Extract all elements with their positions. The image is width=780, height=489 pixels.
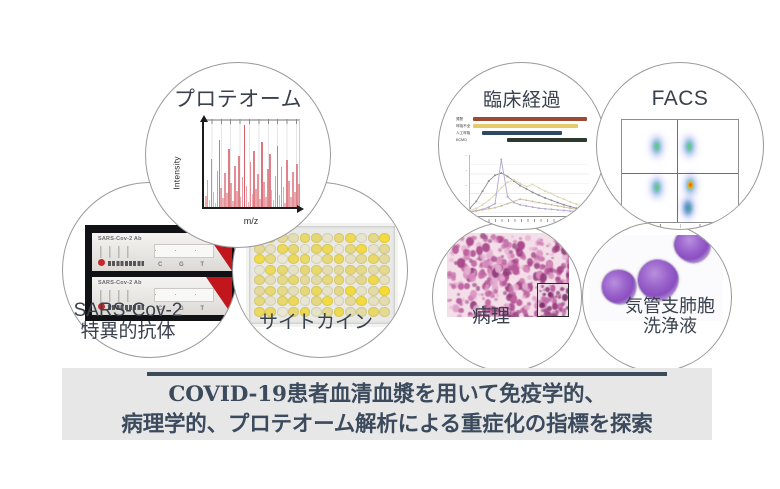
elisa-well [356,296,367,306]
clinical-series-marker [569,210,571,212]
histology-cell-nucleus [566,269,569,273]
elisa-well [311,296,322,306]
elisa-well [311,254,322,264]
elisa-well [379,286,390,296]
histology-cell-nucleus [519,278,525,284]
elisa-well [368,275,379,285]
elisa-well [277,275,288,285]
histology-cell-nucleus [451,276,456,282]
elisa-well [345,275,356,285]
elisa-well [288,265,299,275]
clinical-series-marker [582,206,584,208]
clinical-series-marker [532,206,534,208]
label-bal-line1: 気管支肺胞 [625,296,715,316]
histology-cell-nucleus [562,294,567,301]
clinical-series-marker [519,185,521,187]
histology-cell-nucleus [451,284,456,289]
label-sars-line2: 特異的抗体 [80,321,175,342]
histology-cell-nucleus [543,293,546,296]
clinical-series-marker [494,203,496,205]
histology-cell-nucleus [550,253,554,256]
histology-cell-nucleus [511,260,514,262]
histology-cell-nucleus [547,243,552,248]
clinical-series-marker [544,197,546,199]
cassette-red-corner [206,277,232,315]
elisa-well [334,275,345,285]
histology-cell-nucleus [519,237,522,239]
elisa-well [334,244,345,254]
panel-proteome-title: プロテオーム [146,83,330,113]
label-sars-line1: SARS-Cov-2 [74,300,183,321]
elisa-well [300,275,311,285]
histology-cell-nucleus [462,259,466,262]
histology-cell-nucleus [561,246,568,255]
histology-cell-nucleus [476,286,481,291]
elisa-well [368,233,379,243]
clinical-series-marker [500,158,502,160]
label-pathology: 病理 [436,306,546,327]
histology-cell-nucleus [557,267,563,274]
clinical-series-marker [575,203,577,205]
clinical-series-marker [544,208,546,210]
banner-top-rule [147,372,667,376]
clinical-series-marker [481,209,483,211]
elisa-well [288,275,299,285]
histology-cell-nucleus [449,258,454,263]
clinical-timeline-bar-label: 人工呼吸 [456,131,470,135]
clinical-series-marker [538,194,540,196]
elisa-well [322,275,333,285]
clinical-series-marker [575,208,577,210]
elisa-well [311,275,322,285]
clinical-series-marker [557,196,559,198]
facs-x-tick-label: 10⁶ [733,227,739,230]
clinical-series-marker [525,199,527,201]
clinical-x-axis-ticks [469,219,589,222]
histology-cell-nucleus [469,273,476,281]
elisa-well [322,254,333,264]
elisa-well-grid [254,233,390,317]
cassette-brand-label: SARS-Cov-2 Ab [98,280,142,286]
cassette-sample-wells-icon [100,246,130,258]
elisa-well [300,265,311,275]
elisa-well [334,254,345,264]
elisa-well [300,233,311,243]
histology-cell-nucleus [550,285,555,290]
histology-cell-nucleus [551,293,555,297]
histology-cell-nucleus [522,295,527,299]
histology-cell-nucleus [460,237,464,241]
histology-cell-nucleus [450,299,453,301]
elisa-well [288,286,299,296]
elisa-well [300,254,311,264]
mass-spectrum-x-axis [202,207,300,209]
histology-cell-nucleus [494,289,498,292]
summary-banner: COVID-19患者血清血漿を用いて免疫学的、 病理学的、プロテオーム解析による… [62,368,712,440]
clinical-series-marker [582,209,584,211]
label-cytokine: サイトカイン [236,312,396,333]
elisa-well [379,244,390,254]
elisa-well [277,265,288,275]
histology-cell-nucleus [511,235,515,238]
elisa-well [265,244,276,254]
elisa-well [334,233,345,243]
histology-cell-nucleus [559,308,563,312]
clinical-y-tick: – [455,198,467,202]
elisa-well [368,286,379,296]
elisa-well [311,286,322,296]
clinical-series-marker [481,204,483,206]
facs-quadrant-horizontal-line [622,173,738,174]
clinical-series-marker [532,191,534,193]
clinical-series-marker [481,190,483,192]
elisa-well [345,265,356,275]
histology-cell-nucleus [550,313,555,317]
elisa-well [254,275,265,285]
cassette-marker-labels: C G T [158,262,212,268]
cassette-result-window [154,244,214,258]
elisa-well [322,233,333,243]
histology-cell-nucleus [496,294,499,296]
histology-cell-nucleus [540,242,544,246]
clinical-series-marker [475,207,477,209]
histology-cell-nucleus [470,290,477,298]
elisa-well [322,244,333,254]
histology-cell-nucleus [546,253,549,255]
histology-cell-nucleus [514,258,519,262]
clinical-line-series [469,155,589,217]
histology-cell-nucleus [568,252,569,258]
elisa-well [334,286,345,296]
histology-cell-nucleus [556,293,559,295]
clinical-series-line [470,180,589,211]
histology-cell-nucleus [530,282,533,284]
elisa-well [277,254,288,264]
elisa-well [265,275,276,285]
elisa-well [265,254,276,264]
clinical-timeline-bar [473,124,578,128]
histology-cell-nucleus [527,258,533,266]
histology-cell-nucleus [465,300,469,304]
histology-cell-nucleus [482,297,485,300]
clinical-series-marker [488,206,490,208]
histology-cell-nucleus [554,245,560,252]
clinical-series-marker [507,175,509,177]
histology-cell-nucleus [539,290,542,292]
elisa-well [288,244,299,254]
elisa-well [311,244,322,254]
histology-cell-nucleus [544,297,549,304]
panel-clinical-course: 臨床経過 発熱呼吸不全人工呼吸ECMO ––––– [438,62,606,230]
clinical-timeline-bar [473,117,587,121]
histology-cell-nucleus [500,276,505,281]
elisa-well [277,296,288,306]
histology-cell-nucleus [488,239,492,243]
research-overview-figure: SARS-Cov-2 Ab C G T SARS-Cov-2 Ab C G T [0,0,780,489]
histology-cell-nucleus [478,271,485,279]
elisa-well [379,265,390,275]
histology-cell-nucleus [512,265,520,275]
elisa-well [300,244,311,254]
clinical-series-marker [544,190,546,192]
histology-cell-nucleus [566,288,569,294]
histology-cell-nucleus [481,293,484,295]
elisa-well [345,233,356,243]
elisa-well [334,296,345,306]
elisa-well [254,265,265,275]
elisa-well [368,296,379,306]
histology-cell-nucleus [503,291,507,295]
elisa-well [379,275,390,285]
elisa-well [356,254,367,264]
clinical-timeline-bar-label: 発熱 [456,117,463,121]
clinical-series-marker [563,204,565,206]
clinical-series-marker [575,210,577,212]
panel-facs: FACS 010²10³10⁴10⁵10⁶ [596,62,764,230]
clinical-series-marker [563,210,565,212]
histology-cell-nucleus [551,257,554,260]
elisa-well [265,265,276,275]
panel-clinical-title: 臨床経過 [439,85,605,112]
elisa-well [300,286,311,296]
histology-cell-nucleus [452,245,459,254]
histology-cell-nucleus [568,292,569,294]
panel-facs-title: FACS [597,87,763,111]
elisa-well [254,254,265,264]
banner-line-2: 病理学的、プロテオーム解析による重症化の指標を探索 [62,410,712,440]
histology-cell-nucleus [490,236,493,238]
banner-text: COVID-19患者血清血漿を用いて免疫学的、 病理学的、プロテオーム解析による… [62,380,712,439]
cassette-brand-label: SARS-Cov-2 Ab [98,236,142,242]
elisa-well [254,296,265,306]
histology-cell-nucleus [561,306,563,307]
histology-cell-nucleus [500,282,504,286]
elisa-well [345,296,356,306]
elisa-well [356,244,367,254]
clinical-series-marker [525,205,527,207]
clinical-timeline-bar-label: 呼吸不全 [456,124,470,128]
panel-proteome: プロテオーム Intensity m/z [145,62,331,248]
elisa-well [379,233,390,243]
clinical-series-marker [550,204,552,206]
histology-cell-nucleus [482,243,489,252]
histology-cell-nucleus [516,299,522,306]
clinical-series-marker [475,200,477,202]
elisa-well [345,254,356,264]
elisa-well [265,296,276,306]
clinical-y-tick: – [455,153,467,157]
clinical-series-marker [525,188,527,190]
clinical-series-marker [519,198,521,200]
clinical-series-marker [488,180,490,182]
clinical-series-marker [507,181,509,183]
elisa-well [311,265,322,275]
clinical-course-chart: 発熱呼吸不全人工呼吸ECMO ––––– [455,115,593,219]
elisa-well [300,296,311,306]
histology-cell-nucleus [457,293,460,296]
clinical-y-tick: – [455,183,467,187]
histology-cell-nucleus [485,299,491,306]
elisa-well [288,296,299,306]
clinical-series-marker [507,196,509,198]
banner-line-1: COVID-19患者血清血漿を用いて免疫学的、 [62,380,712,410]
elisa-well [379,296,390,306]
clinical-series-line [470,173,589,210]
facs-density-tail [683,199,692,217]
mass-spectrum-y-label: Intensity [172,156,182,189]
elisa-well [368,254,379,264]
elisa-well [356,286,367,296]
elisa-well [322,296,333,306]
clinical-series-marker [475,210,477,212]
elisa-well [345,286,356,296]
histology-cell-nucleus [540,257,545,262]
clinical-series-marker [494,174,496,176]
mass-spectrum-x-label: m/z [202,216,300,226]
clinical-series-marker [519,182,521,184]
mass-spectrum-chart: Intensity m/z [184,119,302,227]
clinical-series-marker [550,199,552,201]
histology-cell-nucleus [461,285,464,288]
elisa-well [356,233,367,243]
histology-cell-nucleus [513,284,519,291]
elisa-well [379,254,390,264]
clinical-series-marker [532,183,534,185]
mass-spectrum-y-axis [202,119,204,209]
elisa-well [356,265,367,275]
elisa-well [288,233,299,243]
clinical-series-marker [550,193,552,195]
histology-cell-nucleus [491,256,497,262]
clinical-series-marker [538,207,540,209]
histology-cell-nucleus [522,255,527,260]
clinical-y-tick: – [455,168,467,172]
clinical-series-marker [500,187,502,189]
histology-cell-nucleus [451,254,454,256]
elisa-well [277,244,288,254]
histology-cell-nucleus [494,282,498,285]
clinical-series-marker [557,205,559,207]
facs-density-plot [621,119,739,223]
clinical-series-marker [569,201,571,203]
histology-cell-nucleus [517,241,524,251]
histology-cell-nucleus [566,307,569,310]
histology-cell-nucleus [567,264,569,267]
clinical-series-marker [544,203,546,205]
clinical-series-marker [525,186,527,188]
clinical-series-marker [569,206,571,208]
elisa-well [277,286,288,296]
clinical-series-marker [532,200,534,202]
histology-cell-nucleus [495,264,502,273]
histology-cell-nucleus [490,294,494,297]
elisa-well [322,286,333,296]
facs-x-tick-label: 10⁵ [710,227,716,230]
clinical-series-marker [557,202,559,204]
clinical-y-tick: – [455,213,467,217]
clinical-series-marker [494,207,496,209]
histology-cell-nucleus [525,269,530,273]
clinical-series-marker [563,206,565,208]
histology-cell-nucleus [503,268,510,276]
clinical-series-marker [569,207,571,209]
elisa-well [368,265,379,275]
elisa-well [254,286,265,296]
clinical-series-marker [500,172,502,174]
elisa-well [356,275,367,285]
clinical-series-marker [557,209,559,211]
histology-cell-nucleus [525,235,531,242]
label-bal: 気管支肺胞 洗浄液 [600,296,740,336]
histology-cell-nucleus [527,275,532,281]
histology-cell-nucleus [501,259,507,265]
histology-cell-nucleus [541,285,544,288]
clinical-timeline-bar-label: ECMO [456,138,467,142]
elisa-well [288,254,299,264]
facs-density-cluster [687,141,692,151]
clinical-y-tick-labels: ––––– [455,153,467,217]
histology-cell-nucleus [567,296,569,299]
clinical-series-marker [582,211,584,213]
histology-cell-nucleus [464,285,469,290]
histology-cell-nucleus [498,248,502,252]
clinical-series-marker [513,200,515,202]
cassette-logo-icon [98,259,105,266]
clinical-series-marker [538,187,540,189]
mass-spectrum-peaks [203,121,300,209]
histology-cell-nucleus [471,260,477,267]
histology-cell-nucleus [471,236,475,239]
label-bal-line2: 洗浄液 [643,316,697,336]
histology-cell-nucleus [463,249,469,255]
bal-macrophage-cell [668,235,715,268]
clinical-timeline-bar [507,138,587,142]
clinical-series-marker [563,198,565,200]
clinical-series-marker [513,179,515,181]
elisa-well [368,244,379,254]
clinical-series-marker [538,202,540,204]
elisa-well [311,233,322,243]
clinical-timeline-bars: 発熱呼吸不全人工呼吸ECMO [473,117,587,147]
histology-cell-nucleus [494,298,498,301]
histology-cell-nucleus [539,264,544,270]
histology-cell-nucleus [505,253,508,255]
clinical-series-marker [488,199,490,201]
clinical-series-marker [550,208,552,210]
histology-cell-nucleus [567,241,569,247]
elisa-well [345,244,356,254]
label-sars-antibody: SARS-Cov-2 特異的抗体 [48,300,208,343]
histology-cell-nucleus [547,261,553,268]
elisa-well [265,286,276,296]
histology-cell-nucleus [531,252,536,257]
histology-cell-nucleus [559,234,565,241]
clinical-timeline-bar [482,131,562,135]
elisa-well [334,265,345,275]
elisa-well [322,265,333,275]
panel-pathology [432,222,582,372]
cassette-logo-text [108,261,144,266]
clinical-series-marker [519,204,521,206]
clinical-series-marker [507,203,509,205]
histology-photo [447,233,569,317]
clinical-series-marker [500,205,502,207]
clinical-series-marker [488,208,490,210]
